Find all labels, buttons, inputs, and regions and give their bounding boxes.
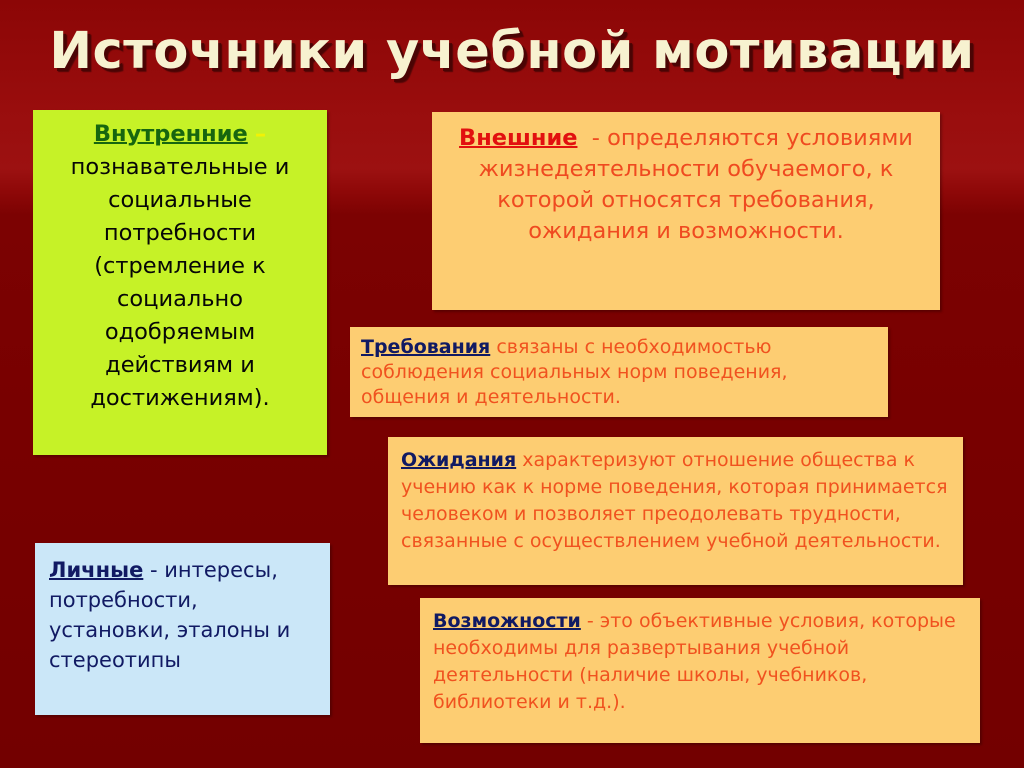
box-requirements-keyword: Требования [361,336,490,358]
box-expectations-keyword: Ожидания [401,449,516,471]
box-external-sources-separator: - [592,125,600,151]
box-external-sources-text: Внешние - определяются условиями жизнеде… [432,112,940,310]
box-personal-sources-text: Личные - интересы, потребности, установк… [35,543,330,715]
box-requirements-text: Требования связаны с необходимостью собл… [350,327,888,417]
box-opportunities-keyword: Возможности [433,610,581,632]
box-opportunities-separator: - [587,610,594,632]
box-expectations[interactable]: Ожидания характеризуют отношение обществ… [388,437,963,585]
box-personal-sources-separator: - [150,558,158,582]
box-expectations-text: Ожидания характеризуют отношение обществ… [388,437,963,585]
box-external-sources-keyword: Внешние [459,125,577,151]
box-internal-sources-body: познавательные и социальные потребности … [71,154,290,411]
box-requirements[interactable]: Требования связаны с необходимостью собл… [350,327,888,417]
box-opportunities-text: Возможности - это объективные условия, к… [420,598,980,743]
box-opportunities[interactable]: Возможности - это объективные условия, к… [420,598,980,743]
box-internal-sources-separator: – [255,121,266,147]
box-internal-sources-text: Внутренние – познавательные и социальные… [33,110,327,455]
box-internal-sources[interactable]: Внутренние – познавательные и социальные… [33,110,327,455]
box-personal-sources-keyword: Личные [49,558,143,582]
slide-canvas: Источники учебной мотивации Внутренние –… [0,0,1024,768]
box-external-sources[interactable]: Внешние - определяются условиями жизнеде… [432,112,940,310]
box-internal-sources-keyword: Внутренние [94,121,248,147]
page-title: Источники учебной мотивации [0,22,1024,82]
box-personal-sources[interactable]: Личные - интересы, потребности, установк… [35,543,330,715]
